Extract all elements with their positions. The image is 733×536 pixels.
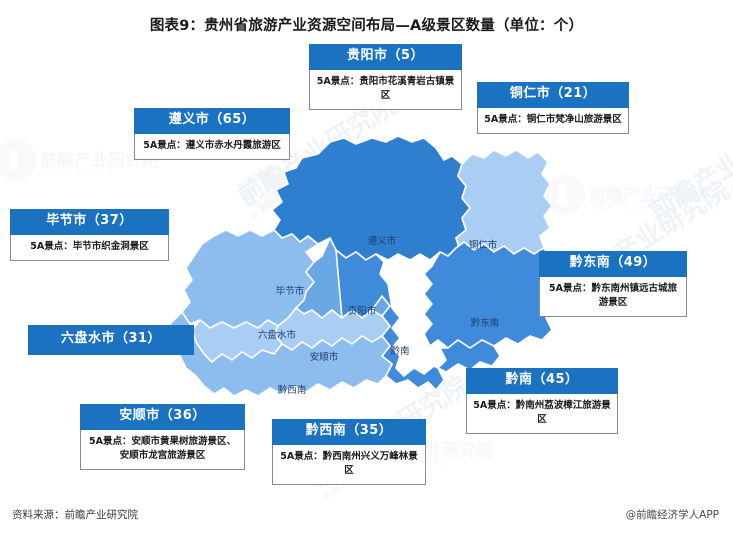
map-label-guiyang: 贵阳市 [348, 305, 377, 317]
callout-tongren[interactable]: 铜仁市（21） 5A景点：铜仁市梵净山旅游景区 [477, 82, 629, 134]
callout-qiandongnan-body: 5A景点：黔东南州镇远古城旅游景区 [539, 277, 687, 318]
callout-guiyang[interactable]: 贵阳市（5） 5A景点：贵阳市花溪青岩古镇景区 [309, 44, 462, 110]
callout-anshun[interactable]: 安顺市（36） 5A景点：安顺市黄果树旅游景区、安顺市龙宫旅游景区 [80, 404, 245, 470]
callout-anshun-body: 5A景点：安顺市黄果树旅游景区、安顺市龙宫旅游景区 [80, 430, 245, 471]
callout-qianxinan-body: 5A景点：黔西南州兴义万峰林景区 [272, 445, 426, 486]
map-label-zunyi: 遵义市 [368, 235, 397, 247]
map-label-liupanshui: 六盘水市 [258, 329, 297, 341]
callout-qiannan-body: 5A景点：黔南州荔波樟江旅游景区 [466, 394, 618, 435]
source-note: 资料来源：前瞻产业研究院 [12, 507, 138, 522]
callout-qiannan-header: 黔南（45） [466, 368, 618, 394]
callout-liupanshui[interactable]: 六盘水市（31） [28, 325, 194, 355]
callout-qianxinan[interactable]: 黔西南（35） 5A景点：黔西南州兴义万峰林景区 [272, 419, 426, 485]
callout-qiandongnan-header: 黔东南（49） [539, 251, 687, 277]
map-label-qianxinan: 黔西南 [278, 384, 307, 396]
callout-anshun-header: 安顺市（36） [80, 404, 245, 430]
app-credit: @前瞻经济学人APP [626, 507, 719, 522]
callout-zunyi-header: 遵义市（65） [134, 108, 290, 134]
callout-tongren-body: 5A景点：铜仁市梵净山旅游景区 [477, 108, 629, 134]
callout-bijie[interactable]: 毕节市（37） 5A景点：毕节市织金洞景区 [10, 209, 169, 261]
callout-guiyang-body: 5A景点：贵阳市花溪青岩古镇景区 [309, 70, 462, 111]
map-label-anshun: 安顺市 [310, 351, 339, 363]
callout-guiyang-header: 贵阳市（5） [309, 44, 462, 70]
callout-liupanshui-header: 六盘水市（31） [28, 325, 194, 355]
page-title: 图表9：贵州省旅游产业资源空间布局—A级景区数量（单位：个） [0, 14, 733, 35]
map-label-qiannan: 黔南 [390, 345, 409, 357]
map-label-qiandongnan: 黔东南 [471, 317, 500, 329]
callout-bijie-header: 毕节市（37） [10, 209, 169, 235]
map-region-qiandongnan[interactable] [424, 242, 556, 348]
map-label-tongren: 铜仁市 [469, 239, 498, 251]
callout-qianxinan-header: 黔西南（35） [272, 419, 426, 445]
callout-qiandongnan[interactable]: 黔东南（49） 5A景点：黔东南州镇远古城旅游景区 [539, 251, 687, 317]
callout-qiannan[interactable]: 黔南（45） 5A景点：黔南州荔波樟江旅游景区 [466, 368, 618, 434]
callout-zunyi-body: 5A景点：遵义市赤水丹霞旅游区 [134, 134, 290, 160]
callout-zunyi[interactable]: 遵义市（65） 5A景点：遵义市赤水丹霞旅游区 [134, 108, 290, 160]
map-label-bijie: 毕节市 [276, 285, 305, 297]
callout-bijie-body: 5A景点：毕节市织金洞景区 [10, 235, 169, 261]
callout-tongren-header: 铜仁市（21） [477, 82, 629, 108]
